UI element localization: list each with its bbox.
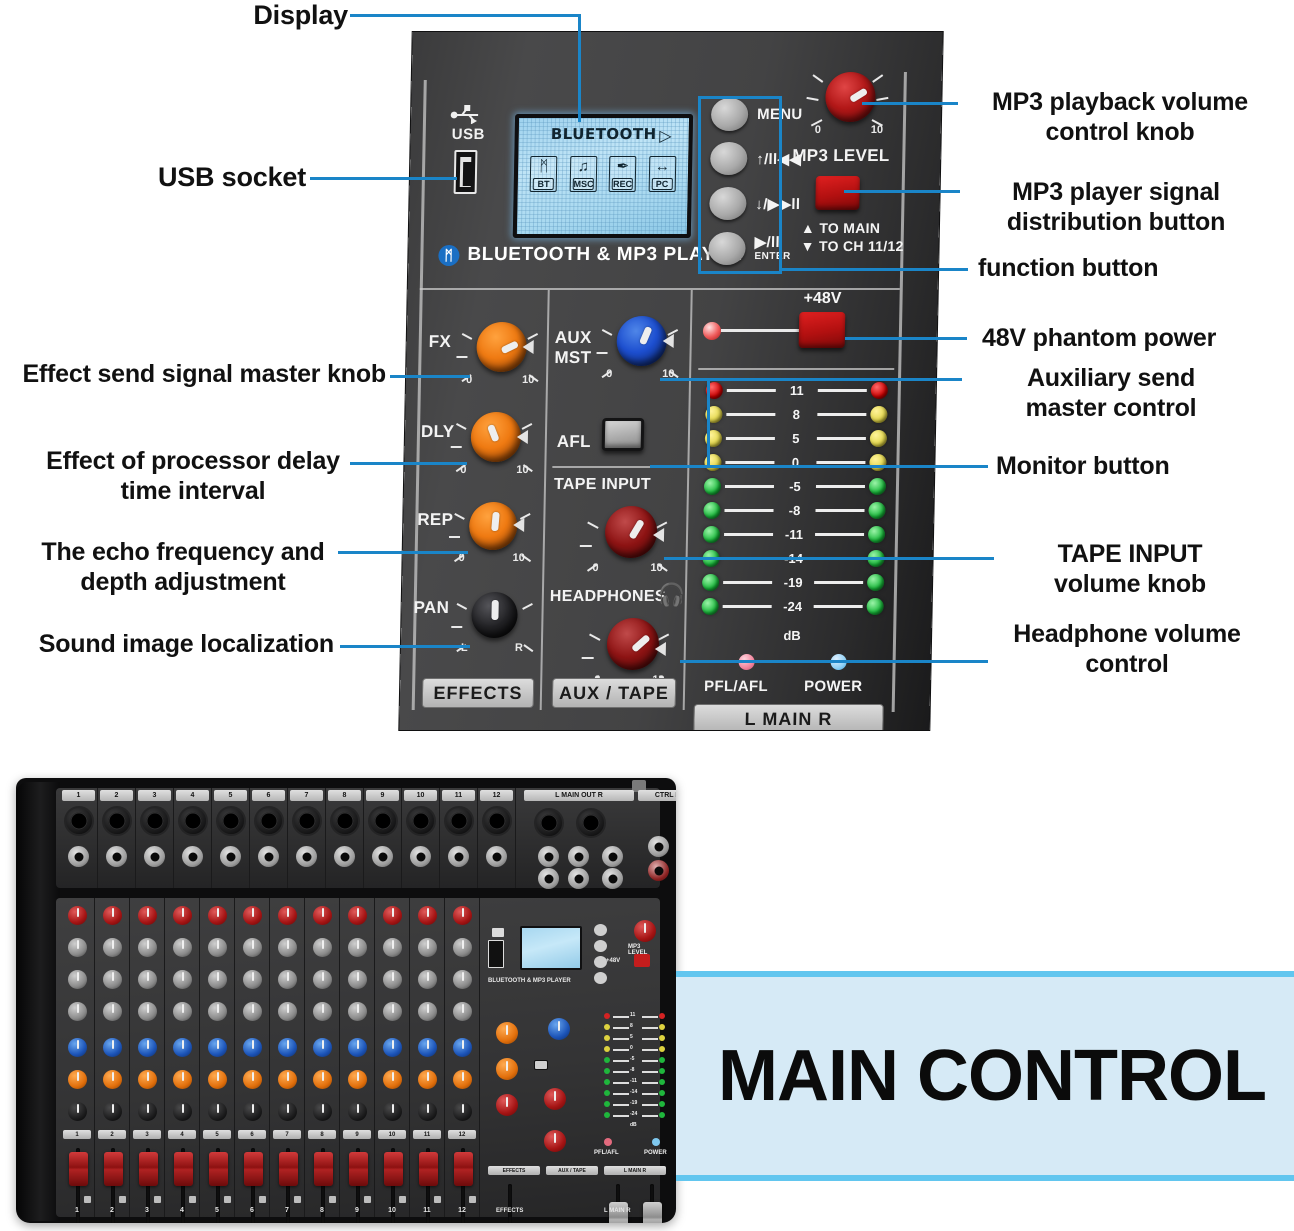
xlr-input[interactable]: [64, 806, 94, 836]
main-section-tab: L MAIN R: [693, 704, 884, 730]
meter-bar-left: [726, 413, 775, 416]
deck-pfl-button: [329, 1196, 336, 1203]
leader-rep-h: [338, 551, 468, 554]
banner-title: MAIN CONTROL: [718, 1035, 1266, 1117]
xlr-input[interactable]: [292, 806, 322, 836]
phantom-48v-label: +48V: [803, 290, 841, 308]
afl-label: AFL: [557, 432, 591, 452]
deck-channel-knob: [453, 970, 472, 989]
meter-value: 11: [780, 383, 814, 398]
deck-meter-unit: dB: [630, 1122, 637, 1128]
deck-channel-knob: [68, 1002, 87, 1021]
leader-48v-h: [845, 337, 967, 340]
rear-channel-strip: 7: [288, 788, 326, 888]
line-input[interactable]: [334, 846, 355, 867]
mixer-deck: 112233445566778899101011111212 BLUETOOTH…: [56, 898, 660, 1217]
deck-meter-value: 8: [630, 1023, 633, 1029]
deck-channel-knob: [453, 1070, 472, 1089]
deck-channel-knob: [383, 970, 402, 989]
deck-channel-knob: [348, 938, 367, 957]
deck-channel-knob: [418, 1070, 437, 1089]
ctrl-room-l-jack[interactable]: [648, 836, 669, 857]
deck-channel-number: 5: [200, 1207, 234, 1214]
meter-row: -8: [703, 502, 885, 519]
deck-channel-tab: 8: [308, 1130, 336, 1139]
rear-connector-panel: 123456789101112 L MAIN OUT R CTRL ROOM: [56, 788, 660, 888]
deck-channel-fader: [174, 1152, 193, 1186]
main-out-xlr-l[interactable]: [534, 808, 564, 838]
main-out-trs-r[interactable]: [568, 846, 589, 867]
aux-tape-section-tab: AUX / TAPE: [552, 678, 677, 708]
deck-channel-strip: 44: [165, 898, 200, 1217]
deck-channel-knob: [313, 970, 332, 989]
deck-channel-knob: [278, 938, 297, 957]
deck-channel-knob: [418, 938, 437, 957]
deck-pfl-button: [469, 1196, 476, 1203]
line-input[interactable]: [68, 846, 89, 867]
meter-row: 8: [705, 406, 887, 423]
deck-menu-button: [594, 924, 607, 936]
deck-meter-bar-right: [642, 1049, 658, 1051]
deck-meter-bar-left: [613, 1115, 629, 1117]
deck-channel-fader: [139, 1152, 158, 1186]
meter-bar-left: [723, 605, 772, 608]
music-mode-tag: MSC: [572, 178, 593, 190]
rear-channel-strip: 2: [98, 788, 136, 888]
line-input[interactable]: [448, 846, 469, 867]
meter-bar-right: [815, 533, 864, 536]
line-input[interactable]: [144, 846, 165, 867]
deck-bt-mp3-label: BLUETOOTH & MP3 PLAYER: [488, 978, 571, 984]
deck-channel-fader: [244, 1152, 263, 1186]
deck-meter-bar-left: [613, 1093, 629, 1095]
bluetooth-mp3-strip: ᛗ BLUETOOTH & MP3 PLAYER: [438, 244, 742, 266]
deck-channel-number: 10: [375, 1207, 409, 1214]
tape-knob-max: 10: [650, 562, 662, 574]
deck-hp-knob: [544, 1130, 566, 1152]
deck-meter-bar-left: [613, 1082, 629, 1084]
deck-meter-row: -5: [604, 1056, 666, 1065]
dly-knob[interactable]: 0 10: [456, 404, 536, 486]
bluetooth-mode-tag: BT: [533, 178, 554, 190]
deck-channel-number: 3: [130, 1207, 164, 1214]
rear-channel-strip: 9: [364, 788, 402, 888]
effects-section-tab: EFFECTS: [422, 678, 535, 708]
fx-knob-caption: FX: [429, 332, 452, 352]
deck-channel-knob: [383, 1070, 402, 1089]
deck-meter-row: 5: [604, 1034, 666, 1043]
deck-effects-fader-slot: [508, 1184, 512, 1223]
phantom-power-button[interactable]: [799, 312, 846, 348]
deck-channel-knob: [208, 938, 227, 957]
rear-channel-strip: 12: [478, 788, 516, 888]
aux-caption-line1: AUX: [555, 328, 592, 347]
rear-channel-number: 9: [366, 790, 399, 801]
line-input[interactable]: [182, 846, 203, 867]
deck-channel-tab: 10: [378, 1130, 406, 1139]
deck-meter-bar-left: [613, 1049, 629, 1051]
mixer-side-wall: [16, 782, 60, 1221]
rear-channel-number: 3: [138, 790, 171, 801]
xlr-input[interactable]: [406, 806, 436, 836]
callout-function-button: function button: [978, 254, 1278, 284]
deck-channel-knob: [138, 1038, 157, 1057]
deck-meter-led-right: [659, 1101, 665, 1107]
deck-meter-led-left: [604, 1046, 610, 1052]
dly-knob-max: 10: [516, 464, 528, 476]
deck-meter-led-right: [659, 1013, 665, 1019]
deck-afl-button: [534, 1060, 548, 1070]
callout-echo-depth: The echo frequency and depth adjustment: [32, 538, 334, 597]
meter-bar-right: [817, 413, 866, 416]
meter-led-right: [870, 406, 887, 423]
deck-main-r-fader: [643, 1202, 662, 1223]
deck-channel-knob: [453, 1038, 472, 1057]
usb-socket[interactable]: [454, 150, 478, 194]
pc-glyph: ↔: [655, 158, 670, 176]
callout-aux-send-master: Auxiliary send master control: [966, 364, 1256, 423]
record-mode-icon[interactable]: ✒ REC: [609, 156, 637, 192]
callout-headphone-volume: Headphone volume control: [966, 620, 1288, 679]
deck-channel-knob: [243, 906, 262, 925]
deck-meter-value: 5: [630, 1034, 633, 1040]
meter-value: -24: [776, 599, 810, 614]
deck-meter-led-left: [604, 1101, 610, 1107]
deck-channel-knob: [278, 906, 297, 925]
meter-bar-right: [815, 509, 864, 512]
rear-channel-strip: 6: [250, 788, 288, 888]
xlr-input[interactable]: [254, 806, 284, 836]
lcd-next-arrow-icon: ▷: [659, 126, 672, 146]
deck-meter-bar-right: [642, 1093, 658, 1095]
deck-channel-fader: [314, 1152, 333, 1186]
xlr-input[interactable]: [444, 806, 474, 836]
deck-meter-led-left: [604, 1079, 610, 1085]
deck-channel-number: 4: [165, 1207, 199, 1214]
deck-main-tab: L MAIN R: [604, 1166, 666, 1175]
deck-48v-label: +48V: [606, 958, 620, 964]
monitor-afl-button[interactable]: [602, 418, 645, 451]
effect-trs[interactable]: [602, 868, 623, 889]
deck-channel-knob: [383, 906, 402, 925]
deck-channel-number: 12: [445, 1207, 479, 1214]
deck-play-button: [594, 972, 607, 984]
deck-meter-led-left: [604, 1112, 610, 1118]
deck-channel-strip: 22: [95, 898, 130, 1217]
deck-channel-knob: [313, 1002, 332, 1021]
deck-channel-tab: 6: [238, 1130, 266, 1139]
meter-unit-label: dB: [701, 628, 883, 643]
deck-meter-bar-left: [613, 1016, 629, 1018]
tape-input-knob[interactable]: 0 10: [586, 500, 672, 586]
send-trs[interactable]: [602, 846, 623, 867]
deck-pfl-button: [399, 1196, 406, 1203]
aux-send-trs[interactable]: [568, 868, 589, 889]
leader-pan-h: [340, 645, 470, 648]
meter-row: -24: [702, 598, 884, 615]
meter-led-right: [870, 430, 887, 447]
deck-pfl-button: [434, 1196, 441, 1203]
deck-pfl-button: [119, 1196, 126, 1203]
deck-pfl-button: [189, 1196, 196, 1203]
deck-effects-bottom-label: EFFECTS: [496, 1208, 523, 1214]
deck-effects-tab: EFFECTS: [488, 1166, 540, 1175]
deck-mp3-level-knob: [634, 920, 656, 942]
deck-channel-knob: [418, 906, 437, 925]
xlr-input[interactable]: [140, 806, 170, 836]
meter-bar-left: [726, 437, 775, 440]
deck-channel-knob: [348, 1102, 367, 1121]
mp3-level-max: 10: [871, 124, 883, 136]
deck-aux-tape-tab: AUX / TAPE: [546, 1166, 598, 1175]
rear-channel-number: 8: [328, 790, 361, 801]
deck-meter-led-right: [659, 1057, 665, 1063]
xlr-input[interactable]: [178, 806, 208, 836]
deck-channel-knob: [138, 906, 157, 925]
main-level-meter: 11 8 5: [701, 382, 888, 626]
deck-channel-knob: [243, 1038, 262, 1057]
meter-row: 5: [705, 430, 887, 447]
deck-channel-knob: [453, 1102, 472, 1121]
deck-channel-fader: [419, 1152, 438, 1186]
mp3-level-min: 0: [815, 124, 821, 136]
deck-meter-led-left: [604, 1068, 610, 1074]
rear-channel-number: 12: [480, 790, 513, 801]
deck-channel-knob: [68, 1070, 87, 1089]
xlr-input[interactable]: [330, 806, 360, 836]
deck-power-led: [652, 1138, 660, 1146]
main-out-xlr-r[interactable]: [576, 808, 606, 838]
deck-channel-knob: [68, 1038, 87, 1057]
line-input[interactable]: [410, 846, 431, 867]
deck-channel-knob: [243, 1102, 262, 1121]
deck-channel-knob: [173, 1002, 192, 1021]
rear-channel-strip: 10: [402, 788, 440, 888]
xlr-input[interactable]: [482, 806, 512, 836]
deck-channel-knob: [313, 1070, 332, 1089]
line-input[interactable]: [372, 846, 393, 867]
meter-bar-right: [818, 389, 867, 392]
pan-knob-min: L: [461, 642, 468, 654]
pc-mode-icon[interactable]: ↔ PC: [648, 156, 676, 192]
deck-channel-fader: [454, 1152, 473, 1186]
deck-channel-knob: [173, 1038, 192, 1057]
deck-channel-knob: [68, 938, 87, 957]
line-input[interactable]: [106, 846, 127, 867]
deck-fx-knob: [496, 1022, 518, 1044]
deck-pfl-button: [224, 1196, 231, 1203]
rep-knob[interactable]: 0 10: [454, 494, 534, 576]
leader-monitor-h: [650, 465, 988, 468]
meter-led-right: [869, 478, 886, 495]
pfl-afl-label: PFL/AFL: [704, 678, 768, 695]
deck-channel-knob: [243, 970, 262, 989]
deck-channel-fader: [69, 1152, 88, 1186]
headphones-icon: 🎧: [658, 582, 686, 608]
deck-channel-tab: 12: [448, 1130, 476, 1139]
main-out-trs-l[interactable]: [538, 846, 559, 867]
deck-meter-value: 11: [630, 1012, 635, 1018]
meter-value: -8: [777, 503, 811, 518]
fx-knob[interactable]: 0 10: [462, 314, 542, 396]
deck-up-button: [594, 940, 607, 952]
leader-aux-h2: [707, 378, 962, 381]
rear-channel-strip: 5: [212, 788, 250, 888]
deck-channel-strip: 99: [340, 898, 375, 1217]
leader-display-h: [350, 14, 581, 17]
deck-meter-row: -11: [604, 1078, 666, 1087]
deck-channel-strip: 1111: [410, 898, 445, 1217]
deck-pfl-led: [604, 1138, 612, 1146]
mp3-signal-distribution-button[interactable]: [815, 176, 860, 210]
deck-channel-knob: [243, 938, 262, 957]
deck-meter-led-left: [604, 1057, 610, 1063]
xlr-input[interactable]: [216, 806, 246, 836]
meter-row: -5: [704, 478, 886, 495]
deck-channel-strip: 1010: [375, 898, 410, 1217]
rear-channel-strip: 3: [136, 788, 174, 888]
meter-bar-left: [727, 389, 776, 392]
deck-channel-tab: 5: [203, 1130, 231, 1139]
rep-knob-caption: REP: [417, 510, 453, 530]
infographic-root: USB BLUETOOTH ▷ ᛗ BT ♫ MSC ✒: [0, 0, 1294, 1231]
deck-channel-knob: [453, 1002, 472, 1021]
deck-channel-knob: [348, 1002, 367, 1021]
deck-channel-knob: [348, 1070, 367, 1089]
meter-led-left: [703, 526, 720, 543]
deck-channel-number: 2: [95, 1207, 129, 1214]
dly-knob-min: 0: [460, 464, 466, 476]
deck-channel-knob: [68, 906, 87, 925]
deck-channel-number: 9: [340, 1207, 374, 1214]
deck-channel-knob: [103, 1102, 122, 1121]
meter-row: -11: [703, 526, 885, 543]
music-mode-icon[interactable]: ♫ MSC: [569, 156, 597, 192]
bluetooth-glyph: ᛗ: [539, 158, 548, 176]
xlr-input[interactable]: [102, 806, 132, 836]
lcd-mode-icons: ᛗ BT ♫ MSC ✒ REC ↔ PC: [524, 156, 683, 192]
mp3-level-knob[interactable]: 0 10: [808, 64, 888, 150]
deck-meter-led-right: [659, 1024, 665, 1030]
rear-channel-number: 10: [404, 790, 437, 801]
deck-meter-value: -5: [630, 1056, 634, 1062]
meter-value: 8: [779, 407, 813, 422]
aux-caption-line2: MST: [554, 348, 591, 368]
deck-channel-knob: [173, 938, 192, 957]
deck-channel-knob: [278, 1070, 297, 1089]
deck-meter-bar-left: [613, 1038, 629, 1040]
meter-led-left: [702, 574, 719, 591]
callout-effect-send-master: Effect send signal master knob: [4, 360, 386, 390]
line-input[interactable]: [258, 846, 279, 867]
rear-channel-strip: 4: [174, 788, 212, 888]
meter-bar-right: [814, 581, 863, 584]
callout-mp3-volume: MP3 playback volume control knob: [956, 88, 1284, 147]
lcd-display[interactable]: BLUETOOTH ▷ ᛗ BT ♫ MSC ✒ REC: [513, 114, 693, 238]
deck-channel-knob: [103, 1038, 122, 1057]
deck-meter-led-right: [659, 1046, 665, 1052]
deck-meter-led-left: [604, 1035, 610, 1041]
deck-meter-bar-right: [642, 1038, 658, 1040]
deck-meter-led-left: [604, 1013, 610, 1019]
mixer-control-panel-photo: USB BLUETOOTH ▷ ᛗ BT ♫ MSC ✒: [399, 32, 942, 730]
deck-meter-led-left: [604, 1024, 610, 1030]
deck-meter-led-right: [659, 1035, 665, 1041]
meter-bar-right: [816, 461, 865, 464]
deck-lcd-display: [520, 926, 582, 970]
line-input[interactable]: [296, 846, 317, 867]
power-label: POWER: [804, 678, 862, 695]
deck-channel-knob: [348, 906, 367, 925]
callout-monitor-button: Monitor button: [996, 452, 1294, 482]
deck-meter-row: 11: [604, 1012, 666, 1021]
deck-meter-value: 0: [630, 1045, 633, 1051]
deck-meter-bar-right: [642, 1115, 658, 1117]
deck-channel-number: 7: [270, 1207, 304, 1214]
rear-channel-number: 4: [176, 790, 209, 801]
leader-mp3level-h: [862, 102, 958, 105]
deck-channel-knob: [383, 1002, 402, 1021]
mp3-level-caption: MP3 LEVEL: [792, 146, 890, 166]
deck-channel-knob: [138, 1070, 157, 1089]
deck-channel-tab: 7: [273, 1130, 301, 1139]
deck-meter-row: 0: [604, 1045, 666, 1054]
bluetooth-mode-icon[interactable]: ᛗ BT: [530, 156, 558, 192]
deck-channel-knob: [103, 938, 122, 957]
meter-value: -11: [777, 527, 811, 542]
deck-channel-knob: [348, 970, 367, 989]
deck-meter-led-right: [659, 1090, 665, 1096]
deck-channel-knob: [208, 1002, 227, 1021]
music-glyph: ♫: [578, 158, 590, 176]
deck-channel-knob: [68, 1102, 87, 1121]
deck-pfl-button: [154, 1196, 161, 1203]
deck-channel-tab: 3: [133, 1130, 161, 1139]
deck-channel-fader: [209, 1152, 228, 1186]
deck-meter-led-right: [659, 1068, 665, 1074]
pc-mode-tag: PC: [651, 178, 672, 190]
deck-channel-fader: [349, 1152, 368, 1186]
phones-trs[interactable]: [538, 868, 559, 889]
deck-meter-row: -8: [604, 1067, 666, 1076]
meter-led-right: [871, 382, 888, 399]
xlr-input[interactable]: [368, 806, 398, 836]
line-input[interactable]: [486, 846, 507, 867]
dly-knob-caption: DLY: [421, 422, 455, 442]
meter-led-right: [867, 574, 884, 591]
deck-channel-knob: [103, 970, 122, 989]
line-input[interactable]: [220, 846, 241, 867]
meter-led-left: [703, 502, 720, 519]
deck-meter-bar-right: [642, 1016, 658, 1018]
aux-mst-caption: AUX MST: [554, 328, 592, 368]
meter-led-right: [869, 454, 886, 471]
rear-channel-number: 1: [62, 790, 95, 801]
meter-row: 0: [704, 454, 886, 471]
main-out-header: L MAIN OUT R: [524, 790, 634, 801]
rca-out-l[interactable]: [648, 860, 669, 881]
rear-channel-number: 11: [442, 790, 475, 801]
deck-tape-knob: [544, 1088, 566, 1110]
meter-led-right: [867, 598, 884, 615]
pan-knob[interactable]: L R: [457, 584, 537, 666]
meter-led-left: [704, 478, 721, 495]
deck-pfl-button: [294, 1196, 301, 1203]
deck-meter-bar-right: [642, 1104, 658, 1106]
callout-delay-time: Effect of processor delay time interval: [40, 447, 346, 506]
deck-channel-strip: 88: [305, 898, 340, 1217]
deck-channel-strip: 33: [130, 898, 165, 1217]
